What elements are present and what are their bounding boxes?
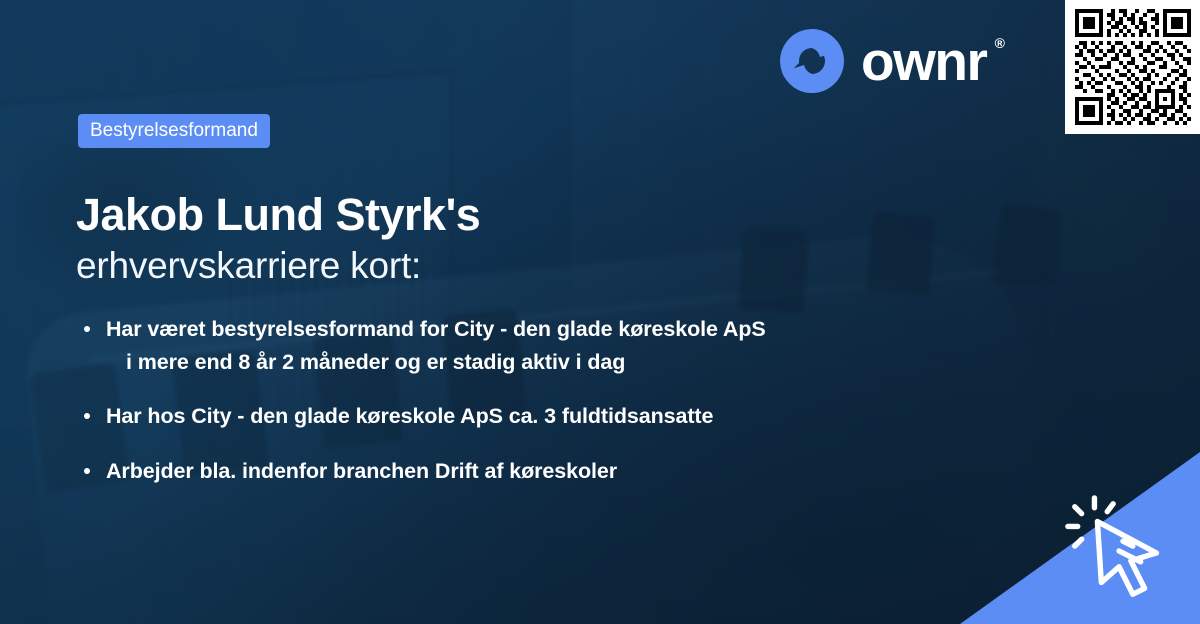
bullet-dot-icon <box>84 326 90 332</box>
click-cursor-icon <box>1062 492 1180 610</box>
page-subtitle: erhvervskarriere kort: <box>76 245 421 288</box>
qr-code-icon[interactable] <box>1075 9 1191 125</box>
ownr-logo[interactable]: ownr® <box>779 28 988 94</box>
ownr-wordmark-text: ownr <box>861 30 986 92</box>
list-item: Har været bestyrelsesformand for City - … <box>78 313 958 378</box>
list-item: Arbejder bla. indenfor branchen Drift af… <box>78 455 958 488</box>
role-badge: Bestyrelsesformand <box>78 114 270 148</box>
bullet-dot-icon <box>84 468 90 474</box>
career-summary-list: Har været bestyrelsesformand for City - … <box>78 313 958 488</box>
ownr-wordmark: ownr® <box>861 34 988 89</box>
ownr-circle-swoosh-icon <box>779 28 845 94</box>
bullet-dot-icon <box>84 413 90 419</box>
page-title: Jakob Lund Styrk's <box>76 190 480 240</box>
list-item-line1: Har hos City - den glade køreskole ApS c… <box>106 404 713 428</box>
list-item-line1: Har været bestyrelsesformand for City - … <box>106 317 766 341</box>
corner-vignette <box>0 0 1200 624</box>
ownr-profile-card: ownr® Bestyrelsesformand Jakob Lund Styr… <box>0 0 1200 624</box>
list-item-line1: Arbejder bla. indenfor branchen Drift af… <box>106 459 617 483</box>
list-item-line2: i mere end 8 år 2 måneder og er stadig a… <box>106 346 958 379</box>
list-item: Har hos City - den glade køreskole ApS c… <box>78 400 958 433</box>
qr-code-panel[interactable] <box>1065 0 1200 134</box>
registered-mark: ® <box>995 36 1004 50</box>
